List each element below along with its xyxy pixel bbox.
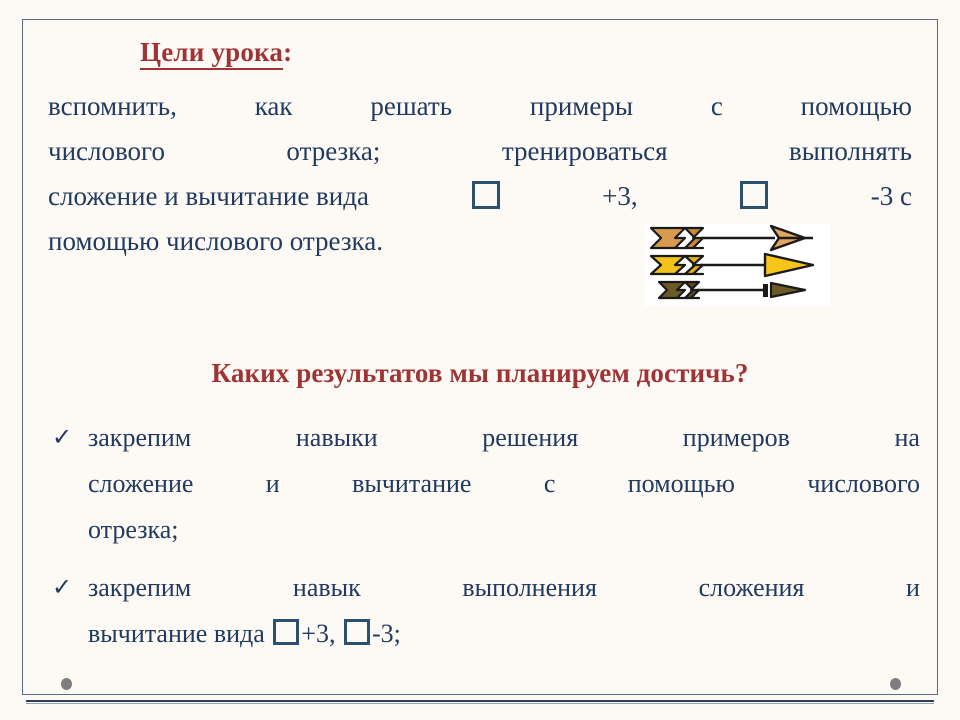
- paragraph-operand-minus: -3 с: [871, 174, 912, 219]
- paragraph-word: числового: [48, 129, 165, 174]
- paragraph-line-2: числового отрезка; тренироваться выполня…: [48, 129, 912, 174]
- bullet-word: помощью: [628, 461, 735, 507]
- paragraph-word: помощью: [801, 84, 912, 129]
- bullet-2-line-1: закрепим навык выполнения сложения и: [88, 565, 920, 611]
- bullet-word: и: [266, 461, 280, 507]
- bullet-word: решения: [482, 415, 578, 461]
- page-title-underlined: Цели урока: [140, 37, 283, 70]
- checkmark-icon: ✓: [52, 565, 72, 611]
- bottom-rule-thick: [26, 700, 934, 702]
- paragraph-word: с: [711, 84, 723, 129]
- bullet-word: выполнения: [462, 565, 597, 611]
- arrow-2: [651, 254, 813, 276]
- empty-box-placeholder-2: [738, 174, 770, 219]
- empty-square-icon: [472, 181, 500, 209]
- paragraph-text: сложение и вычитание вида: [48, 174, 369, 219]
- paragraph-word: выполнять: [789, 129, 912, 174]
- list-item: ✓ закрепим навыки решения примеров на сл…: [40, 415, 920, 553]
- results-bullet-list: ✓ закрепим навыки решения примеров на сл…: [40, 415, 920, 657]
- empty-square-icon: [344, 619, 370, 645]
- bullet-operand-plus: +3,: [301, 619, 335, 648]
- empty-square-icon: [273, 619, 299, 645]
- bullet-word: с: [544, 461, 556, 507]
- bullet-word: сложения: [699, 565, 805, 611]
- bullet-word: числового: [807, 461, 920, 507]
- empty-box-placeholder-1: [470, 174, 502, 219]
- bullet-text: вычитание вида: [88, 619, 265, 648]
- bullet-word: закрепим: [88, 565, 191, 611]
- bullet-word: сложение: [88, 461, 193, 507]
- checkmark-icon: ✓: [52, 415, 72, 461]
- paragraph-word: примеры: [530, 84, 633, 129]
- paragraph-word: решать: [370, 84, 452, 129]
- page-title-colon: :: [283, 37, 292, 67]
- arrow-1: [651, 226, 813, 250]
- paragraph-word: как: [255, 84, 293, 129]
- bullet-word: и: [906, 565, 920, 611]
- bullet-word: вычитание: [352, 461, 471, 507]
- bullet-word: примеров: [683, 415, 790, 461]
- paragraph-word: отрезка;: [286, 129, 380, 174]
- bullet-operand-minus: -3;: [372, 619, 401, 648]
- three-arrows-clipart: [645, 224, 831, 306]
- paragraph-operand-plus: +3,: [602, 174, 637, 219]
- title-row: Цели урока:: [40, 37, 920, 68]
- slide-canvas: Цели урока: вспомнить, как решать пример…: [0, 0, 960, 720]
- bottom-double-rule: [26, 700, 934, 704]
- bullet-word: навыки: [296, 415, 378, 461]
- bottom-rule-thin: [26, 703, 934, 704]
- empty-square-icon: [740, 181, 768, 209]
- bullet-1-line-1: закрепим навыки решения примеров на: [88, 415, 920, 461]
- bullet-word: на: [895, 415, 920, 461]
- slide-content: Цели урока: вспомнить, как решать пример…: [22, 19, 938, 695]
- paragraph-line-3: сложение и вычитание вида +3, -3 с: [48, 174, 912, 219]
- paragraph-word: тренироваться: [502, 129, 668, 174]
- bullet-1-line-3: отрезка;: [88, 507, 920, 553]
- results-heading: Каких результатов мы планируем достичь?: [40, 358, 920, 389]
- arrow-3: [659, 282, 805, 298]
- page-title: Цели урока:: [140, 37, 292, 68]
- bullet-1-line-2: сложение и вычитание с помощью числового: [88, 461, 920, 507]
- paragraph-line-1: вспомнить, как решать примеры с помощью: [48, 84, 912, 129]
- list-item: ✓ закрепим навык выполнения сложения и в…: [40, 565, 920, 657]
- bullet-word: закрепим: [88, 415, 191, 461]
- decorative-dot-right: [890, 678, 901, 690]
- bullet-word: навык: [293, 565, 361, 611]
- paragraph-word: вспомнить,: [48, 84, 177, 129]
- bullet-2-line-2: вычитание вида +3, -3;: [88, 611, 920, 657]
- decorative-dot-left: [61, 678, 72, 690]
